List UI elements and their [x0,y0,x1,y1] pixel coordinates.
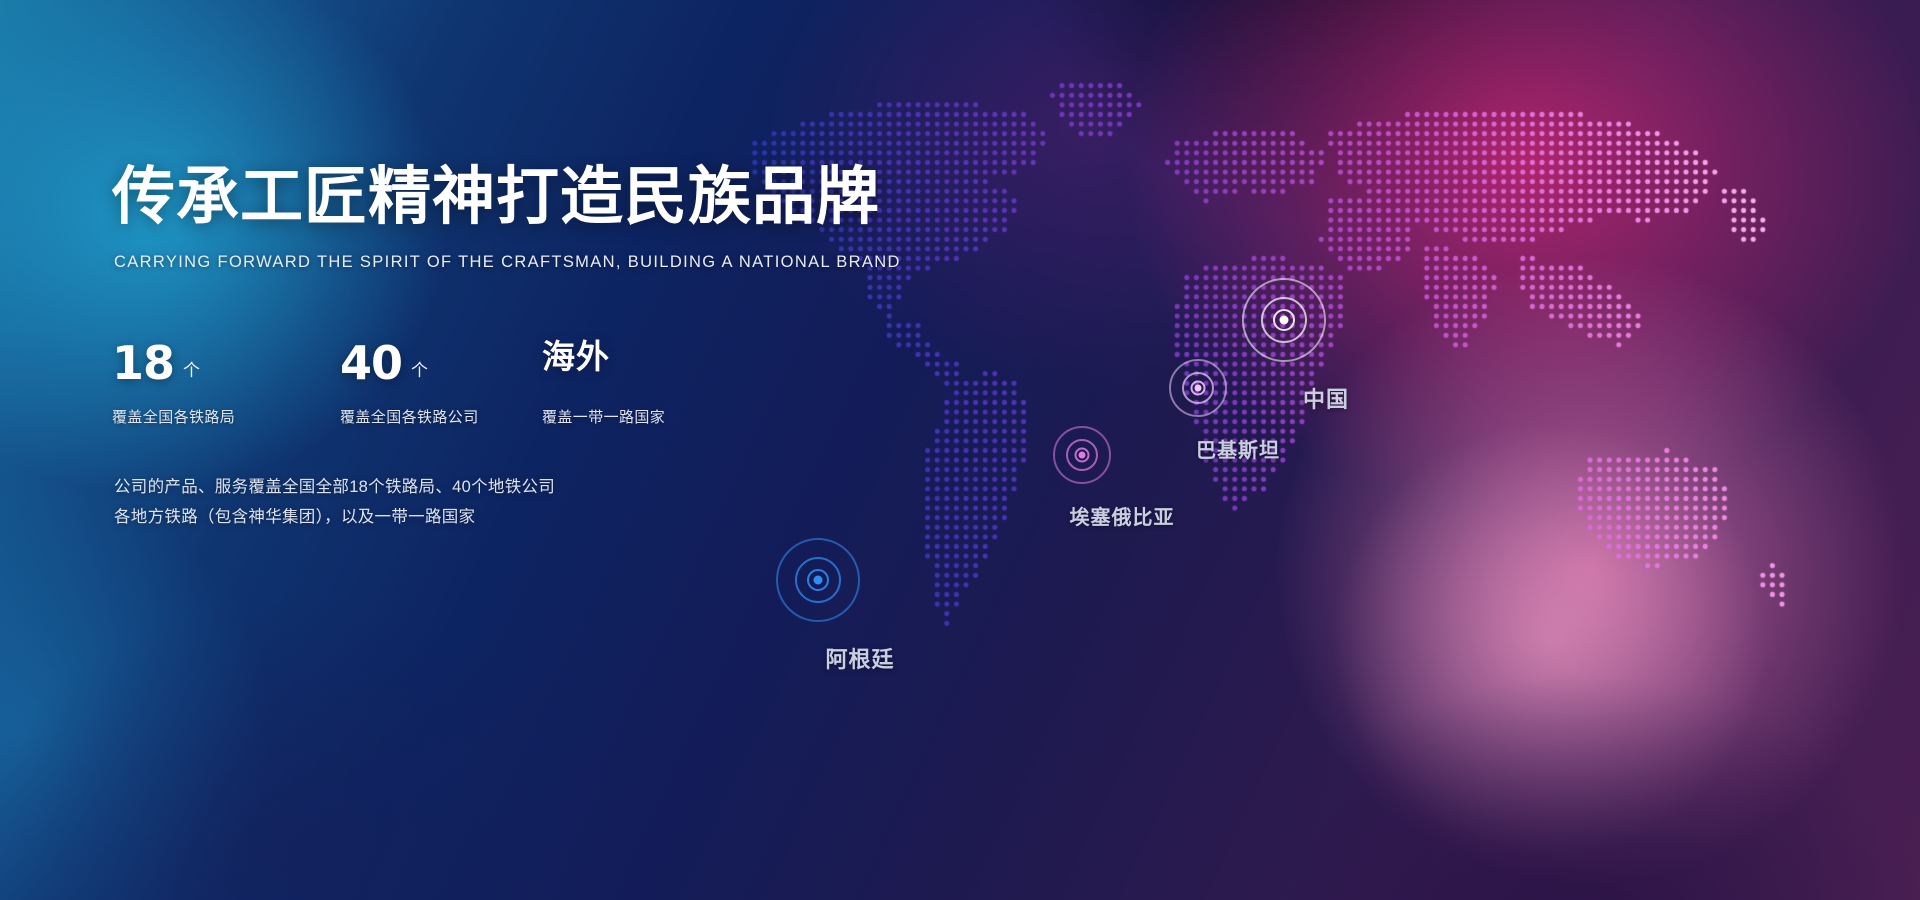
stats-row: 18 个 覆盖全国各铁路局 40 个 覆盖全国各铁路公司 海外 覆盖一带一路国家 [112,340,762,427]
map-marker-label: 阿根廷 [825,642,894,674]
stat-caption: 覆盖全国各铁路局 [112,406,340,427]
map-marker-label: 巴基斯坦 [1196,434,1280,463]
map-marker-label: 埃塞俄比亚 [1070,501,1175,530]
stat-value: 40 [340,340,402,386]
stat-value: 18 [112,340,174,386]
map-marker-label: 中国 [1303,382,1349,414]
stat-value: 海外 [542,340,610,373]
marker-center-dot-icon [814,576,823,585]
hero-banner: 中国巴基斯坦埃塞俄比亚阿根廷 传承工匠精神打造民族品牌 CARRYING FOR… [0,0,1920,900]
marker-center-dot-icon [1079,452,1086,459]
stat-item: 40 个 覆盖全国各铁路公司 [340,340,542,427]
description-line: 公司的产品、服务覆盖全国全部18个铁路局、40个地铁公司 [114,472,555,502]
stat-unit: 个 [183,356,200,381]
page-title: 传承工匠精神打造民族品牌 [112,165,880,228]
stat-unit: 个 [411,356,428,381]
stat-caption: 覆盖一带一路国家 [542,406,762,427]
stat-item: 18 个 覆盖全国各铁路局 [112,340,340,427]
marker-center-dot-icon [1195,385,1202,392]
stat-item: 海外 覆盖一带一路国家 [542,340,762,427]
description-line: 各地方铁路（包含神华集团），以及一带一路国家 [114,502,555,532]
page-subtitle: CARRYING FORWARD THE SPIRIT OF THE CRAFT… [114,253,901,272]
marker-center-dot-icon [1280,316,1289,325]
stat-caption: 覆盖全国各铁路公司 [340,406,542,427]
description-paragraph: 公司的产品、服务覆盖全国全部18个铁路局、40个地铁公司 各地方铁路（包含神华集… [114,472,555,532]
